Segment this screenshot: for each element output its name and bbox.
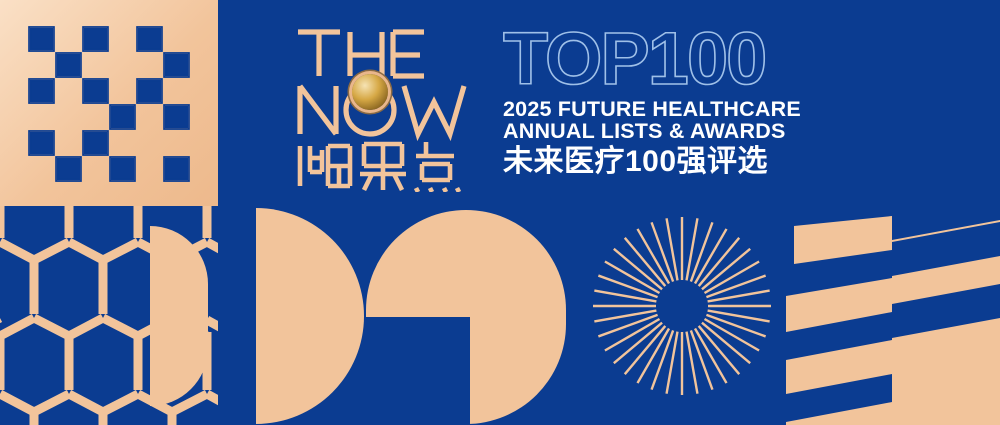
checker-cell (82, 104, 109, 130)
checker-cell (109, 26, 136, 52)
headline-english-line1: 2025 FUTURE HEALTHCARE (503, 99, 843, 121)
checker-cell (109, 52, 136, 78)
checker-cell (57, 158, 80, 180)
poster-banner: TOP100 2025 FUTURE HEALTHCARE ANNUAL LIS… (0, 0, 1000, 425)
checkerboard-block (0, 0, 218, 206)
checker-cell (30, 80, 53, 102)
checker-cell (163, 26, 190, 52)
checker-cell (163, 78, 190, 104)
checker-cell (165, 106, 188, 128)
checker-cell (165, 54, 188, 76)
checker-cell (136, 52, 163, 78)
checker-cell (30, 132, 53, 154)
checker-cell (163, 130, 190, 156)
top100-outline-title: TOP100 (503, 24, 843, 96)
half-circle-shape (256, 208, 364, 424)
checker-cell (55, 130, 82, 156)
checker-cell (55, 26, 82, 52)
checker-cell (28, 52, 55, 78)
headline-chinese: 未来医疗100强评选 (503, 145, 843, 179)
notched-circle-shape (366, 210, 566, 424)
checker-cell (138, 80, 161, 102)
the-now-logo (294, 22, 490, 192)
checker-cell (111, 106, 134, 128)
checker-cell (136, 130, 163, 156)
checker-cell (136, 156, 163, 182)
checker-cell (84, 80, 107, 102)
checker-cell (84, 132, 107, 154)
checker-cell (84, 28, 107, 50)
checker-cell (136, 104, 163, 130)
checkerboard-pattern (28, 26, 190, 182)
headline-english-line2: ANNUAL LISTS & AWARDS (503, 121, 843, 143)
checker-cell (165, 158, 188, 180)
checker-cell (109, 130, 136, 156)
checker-cell (55, 78, 82, 104)
checker-cell (30, 28, 53, 50)
checker-cell (82, 52, 109, 78)
checker-cell (111, 158, 134, 180)
gold-sphere-o (352, 74, 388, 110)
svg-text:TOP100: TOP100 (503, 24, 765, 96)
checker-cell (55, 104, 82, 130)
circle-notch (366, 317, 470, 424)
checker-cell (109, 78, 136, 104)
headline-block: TOP100 2025 FUTURE HEALTHCARE ANNUAL LIS… (503, 24, 843, 179)
sunburst-rays (592, 216, 772, 396)
checker-cell (28, 104, 55, 130)
checker-cell (82, 156, 109, 182)
checker-cell (57, 54, 80, 76)
checker-cell (138, 28, 161, 50)
diagonal-stripe-pattern (786, 204, 1000, 425)
checker-cell (28, 156, 55, 182)
